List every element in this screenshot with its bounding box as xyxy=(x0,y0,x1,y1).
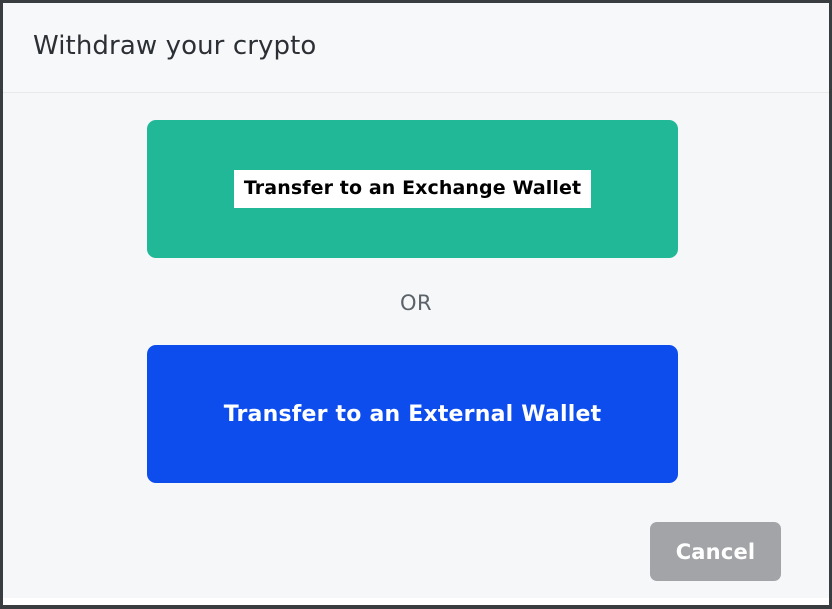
transfer-to-external-wallet-button[interactable]: Transfer to an External Wallet xyxy=(147,345,678,483)
cancel-button[interactable]: Cancel xyxy=(650,522,781,581)
withdraw-crypto-dialog: Withdraw your crypto Transfer to an Exch… xyxy=(3,3,829,598)
page-title: Withdraw your crypto xyxy=(33,31,316,61)
window-frame-bottom xyxy=(0,605,832,609)
screen: Withdraw your crypto Transfer to an Exch… xyxy=(0,0,832,609)
transfer-to-external-wallet-label: Transfer to an External Wallet xyxy=(224,402,602,427)
transfer-to-exchange-wallet-label: Transfer to an Exchange Wallet xyxy=(234,170,591,208)
dialog-body: Transfer to an Exchange Wallet OR Transf… xyxy=(3,94,829,598)
transfer-to-exchange-wallet-button[interactable]: Transfer to an Exchange Wallet xyxy=(147,120,678,258)
or-separator-label: OR xyxy=(3,291,829,315)
dialog-header: Withdraw your crypto xyxy=(3,3,829,93)
